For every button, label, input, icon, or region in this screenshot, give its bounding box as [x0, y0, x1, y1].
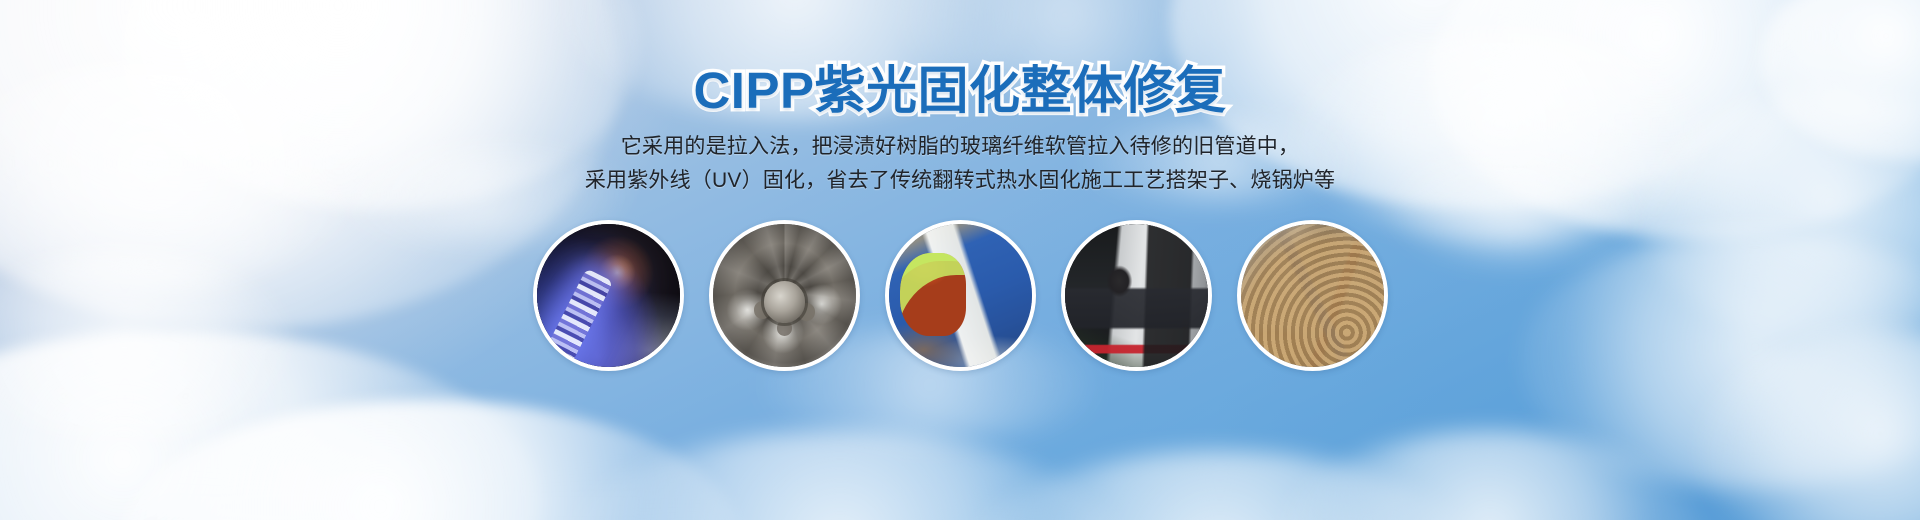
cloud-shape — [120, 400, 740, 520]
cipp-uv-curing-banner: CIPP紫光固化整体修复 它采用的是拉入法，把浸渍好树脂的玻璃纤维软管拉入待修的… — [0, 0, 1920, 520]
banner-text-block: CIPP紫光固化整体修复 它采用的是拉入法，把浸渍好树脂的玻璃纤维软管拉入待修的… — [0, 0, 1920, 198]
thumbnail-worker-handling-liner[interactable] — [885, 220, 1036, 371]
thumbnail-robotic-cutter-in-pipe[interactable] — [709, 220, 860, 371]
photo-robotic-cutter-in-pipe — [713, 224, 856, 367]
photo-uv-curing-train-in-pipe — [537, 224, 680, 367]
banner-subtitle-line-1: 它采用的是拉入法，把浸渍好树脂的玻璃纤维软管拉入待修的旧管道中， — [0, 130, 1920, 164]
photo-worker-handling-liner — [889, 224, 1032, 367]
banner-subtitle: 它采用的是拉入法，把浸渍好树脂的玻璃纤维软管拉入待修的旧管道中， 采用紫外线（U… — [0, 118, 1920, 198]
thumbnail-uv-curing-train-in-pipe[interactable] — [533, 220, 684, 371]
thumbnail-truck-mounted-equipment[interactable] — [1061, 220, 1212, 371]
thumbnail-row — [0, 220, 1920, 371]
photo-truck-mounted-equipment — [1065, 224, 1208, 367]
cloud-shape — [960, 450, 1480, 520]
photo-hose-and-rope-storage — [1241, 224, 1384, 367]
cloud-shape — [1280, 430, 1700, 520]
thumbnail-hose-and-rope-storage[interactable] — [1237, 220, 1388, 371]
banner-headline: CIPP紫光固化整体修复 — [0, 0, 1920, 118]
cloud-shape — [560, 430, 1120, 520]
banner-subtitle-line-2: 采用紫外线（UV）固化，省去了传统翻转式热水固化施工工艺搭架子、烧锅炉等 — [0, 164, 1920, 198]
